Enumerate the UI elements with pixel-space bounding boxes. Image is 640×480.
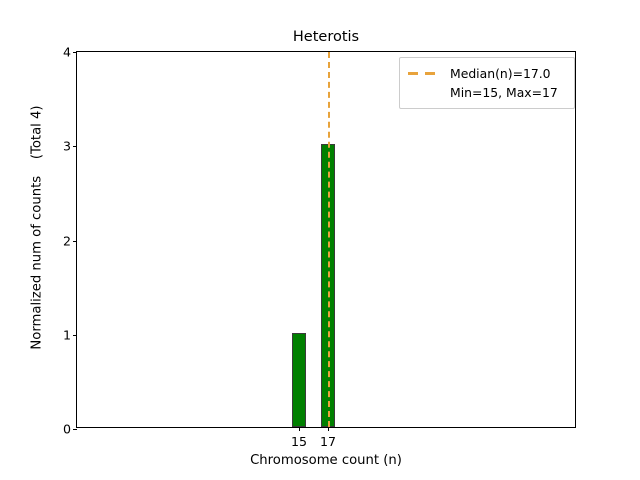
legend-label: Min=15, Max=17 <box>450 85 558 100</box>
chart-figure: Heterotis 0 1 2 3 4 15 17 <box>0 0 640 480</box>
x-tick-mark <box>299 427 300 431</box>
y-tick-label: 3 <box>63 139 71 154</box>
plot-area: 0 1 2 3 4 15 17 <box>76 51 576 428</box>
y-tick-mark <box>73 52 77 53</box>
page-title: Heterotis <box>76 28 576 46</box>
y-axis-label: Normalized num of counts (Total 4) <box>30 38 45 418</box>
x-tick-label: 17 <box>320 434 336 449</box>
bar-15 <box>292 333 306 427</box>
y-tick-label: 4 <box>63 45 71 60</box>
y-tick-label: 0 <box>63 422 71 437</box>
legend-label: Median(n)=17.0 <box>450 66 551 81</box>
x-axis-label: Chromosome count (n) <box>76 453 576 468</box>
x-tick-mark <box>328 427 329 431</box>
y-tick-mark <box>73 146 77 147</box>
legend-entry-minmax: Min=15, Max=17 <box>407 83 566 102</box>
y-tick-label: 2 <box>63 233 71 248</box>
y-tick-mark <box>73 335 77 336</box>
median-line <box>328 52 330 427</box>
legend-entry-median: Median(n)=17.0 <box>407 64 566 83</box>
dashed-line-icon <box>407 68 441 80</box>
y-tick-mark <box>73 241 77 242</box>
y-tick-label: 1 <box>63 327 71 342</box>
x-tick-label: 15 <box>291 434 307 449</box>
blank-swatch-icon <box>407 87 441 99</box>
y-tick-mark <box>73 429 77 430</box>
legend: Median(n)=17.0 Min=15, Max=17 <box>399 57 575 109</box>
